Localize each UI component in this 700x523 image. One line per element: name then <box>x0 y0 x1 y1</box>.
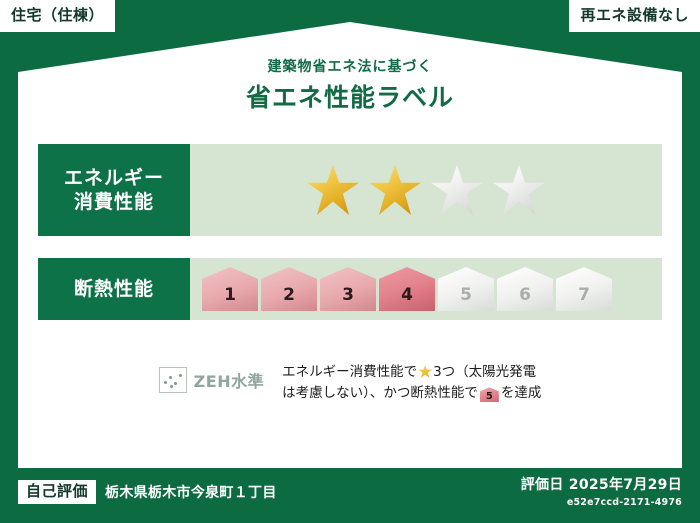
energy-performance-row: エネルギー 消費性能 <box>38 144 662 236</box>
document-id: e52e7ccd-2171-4976 <box>521 497 682 508</box>
energy-performance-label: 住宅（住棟） 再エネ設備なし 建築物省エネ法に基づく 省エネ性能ラベル エネルギ… <box>0 0 700 523</box>
badge-renewable-equipment: 再エネ設備なし <box>569 0 700 32</box>
insulation-level-6: 6 <box>497 267 553 311</box>
insulation-level-3: 3 <box>320 267 376 311</box>
insulation-performance-label: 断熱性能 <box>38 258 190 320</box>
insulation-level-2: 2 <box>261 267 317 311</box>
footer-left: 自己評価 栃木県栃木市今泉町１丁目 <box>18 480 277 504</box>
star-3-off <box>431 165 483 215</box>
energy-performance-label-line1: エネルギー <box>64 166 164 190</box>
insulation-level-5: 5 <box>438 267 494 311</box>
star-rating <box>307 165 545 215</box>
insulation-performance-body: 1234567 <box>190 258 662 320</box>
insulation-level-scale: 1234567 <box>202 267 615 311</box>
energy-performance-body <box>190 144 662 236</box>
inline-house-icon: 5 <box>480 387 499 402</box>
label-footer: 自己評価 栃木県栃木市今泉町１丁目 評価日 2025年7月29日 e52e7cc… <box>0 468 700 523</box>
energy-performance-label-line2: 消費性能 <box>74 190 154 214</box>
insulation-level-4: 4 <box>379 267 435 311</box>
badge-building-type: 住宅（住棟） <box>0 0 115 32</box>
note-block: ZEH水準 エネルギー消費性能で3つ（太陽光発電 は考慮しない）、かつ断熱性能で… <box>0 362 700 405</box>
zeh-standard-label: ZEH水準 <box>194 368 264 392</box>
insulation-level-7: 7 <box>556 267 612 311</box>
zeh-standard-mark: ZEH水準 <box>159 367 264 393</box>
note-part2: は考慮しない）、かつ断熱性能で <box>282 385 478 401</box>
insulation-level-1: 1 <box>202 267 258 311</box>
note-text: エネルギー消費性能で3つ（太陽光発電 は考慮しない）、かつ断熱性能で5を達成 <box>282 362 541 405</box>
badge-renewable-equipment-text: 再エネ設備なし <box>580 6 689 24</box>
evaluation-date: 評価日 2025年7月29日 <box>521 476 682 494</box>
title-subtitle: 建築物省エネ法に基づく <box>0 60 700 74</box>
star-4-off <box>493 165 545 215</box>
badge-building-type-text: 住宅（住棟） <box>11 6 104 24</box>
star-1-on <box>307 165 359 215</box>
energy-performance-label: エネルギー 消費性能 <box>38 144 190 236</box>
note-part1: エネルギー消費性能で <box>282 364 417 380</box>
insulation-performance-row: 断熱性能 1234567 <box>38 258 662 320</box>
note-star-count: 3つ（太陽光発電 <box>433 364 536 380</box>
property-address: 栃木県栃木市今泉町１丁目 <box>105 482 277 502</box>
zeh-mark-icon <box>159 367 187 393</box>
inline-star-icon <box>418 365 432 378</box>
insulation-performance-label-text: 断熱性能 <box>74 277 154 301</box>
title-block: 建築物省エネ法に基づく 省エネ性能ラベル <box>0 60 700 110</box>
star-2-on <box>369 165 421 215</box>
page-title: 省エネ性能ラベル <box>0 85 700 110</box>
footer-right: 評価日 2025年7月29日 e52e7ccd-2171-4976 <box>521 476 682 508</box>
note-part3: を達成 <box>501 385 542 401</box>
self-evaluation-badge: 自己評価 <box>18 480 96 504</box>
